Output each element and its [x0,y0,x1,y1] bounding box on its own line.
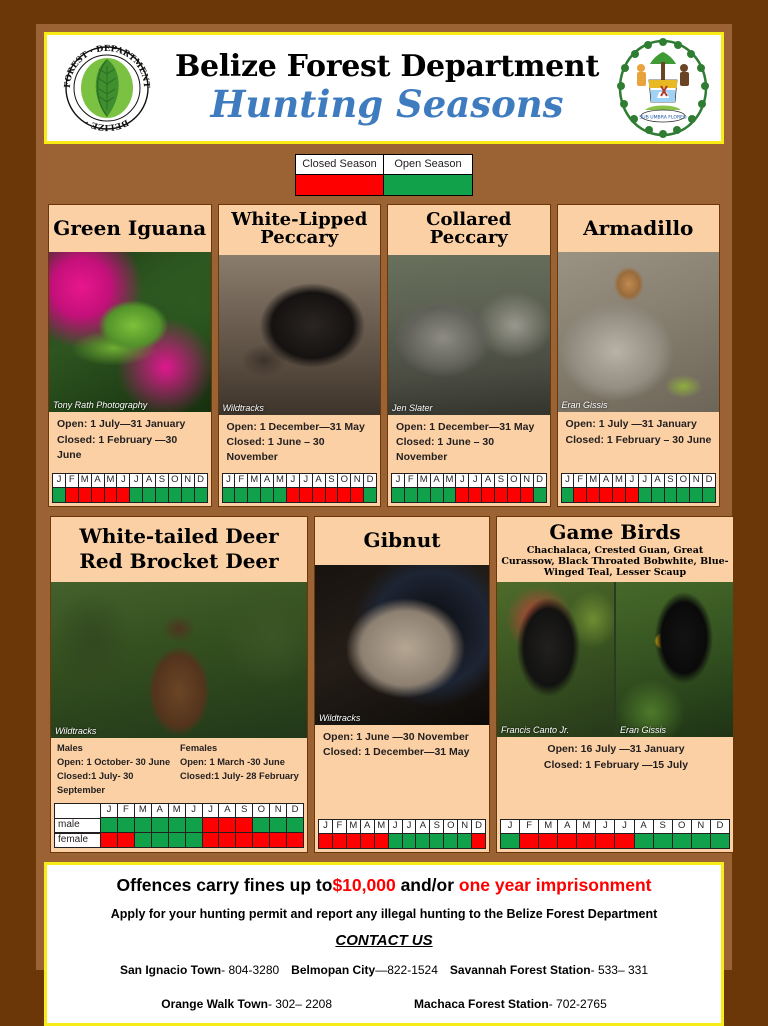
month-label-6: J [468,473,481,488]
month-label-6: J [129,473,142,488]
closed-season-text: Closed: 1 June – 30 November [396,435,544,465]
month-label-8: S [664,473,677,488]
month-label-11: D [471,819,486,834]
season-cell-7-closed [312,488,325,503]
month-label-6: J [402,819,416,834]
month-labels: JFMAMJJASOND [318,819,486,834]
month-label-1: F [519,819,538,834]
month-label-9: O [443,819,457,834]
month-label-1: F [332,819,346,834]
season-cell-10-open [691,834,710,849]
penalty-imprisonment: one year imprisonment [459,875,652,895]
month-label-3: A [430,473,443,488]
season-cell-7-open [415,834,429,849]
females-heading: Females [180,742,303,756]
season-cell-1-closed [573,488,586,503]
month-label-11: D [194,473,208,488]
season-cell-2-closed [346,834,360,849]
closed-season-text: Closed: 1 February —30 June [57,433,205,463]
month-label-6: J [614,819,633,834]
season-cell-8-open [155,488,168,503]
svg-text:SUB UMBRA FLOREO: SUB UMBRA FLOREO [639,115,687,121]
season-text: Open: 1 July —31 January Closed: 1 Febru… [558,412,720,471]
month-label-0: J [222,473,235,488]
month-label-0: J [52,473,65,488]
season-cell-10-closed [350,488,363,503]
card-title-line1: White-tailed Deer [53,524,305,549]
males-closed-text: Closed:1 July- 30 September [57,770,180,798]
photo-credit: Wildtracks [319,713,360,723]
photo-credit-left: Francis Canto Jr. [501,725,569,735]
deer-header-spacer [54,803,100,818]
closed-season-text: Closed: 1 June – 30 November [227,435,375,465]
season-cell-3-open [430,488,443,503]
month-label-8: S [653,819,672,834]
closed-season-text: Closed: 1 February – 30 June [566,433,714,448]
month-label-11: D [710,819,730,834]
closed-season-text: Closed: 1 February —15 July [505,758,727,773]
month-label-2: M [417,473,430,488]
season-cell-3-open [260,488,273,503]
season-cell-10-closed [520,488,533,503]
month-label-0: J [561,473,574,488]
species-card-green-iguana[interactable]: Green Iguana Tony Rath Photography Open:… [48,204,212,507]
season-cell-3-closed [599,488,612,503]
species-card-deer[interactable]: White-tailed Deer Red Brocket Deer Wildt… [50,516,308,853]
belize-forest-department-seal-icon: FOREST · DEPARTMENT BELIZE · [55,38,159,138]
month-label-0: J [100,803,117,818]
month-label-2: M [78,473,91,488]
contact-orange-walk[interactable]: Orange Walk Town- 302– 2208 [155,997,338,1011]
season-cell-5-closed [625,488,638,503]
season-cell-6-open [402,834,416,849]
season-cell-5-closed [286,488,299,503]
month-label-3: A [91,473,104,488]
season-cell-9-open [252,818,269,833]
season-cell-6-closed [299,488,312,503]
contact-belmopan[interactable]: Belmopan City—822-1524 [285,963,444,977]
season-cell-0-open [391,488,404,503]
month-label-8: S [429,819,443,834]
deer-male-label: male [54,818,100,833]
month-label-8: S [494,473,507,488]
species-photo-armadillo: Eran Gissis [558,252,720,412]
month-label-4: M [443,473,456,488]
month-label-1: F [117,803,134,818]
month-label-10: N [269,803,286,818]
season-cell-3-open [151,818,168,833]
month-label-7: A [481,473,494,488]
month-label-5: J [286,473,299,488]
contact-phone: - 702-2765 [549,997,607,1011]
month-strip: JFMAMJJASOND [315,817,489,852]
month-labels: JFMAMJJASOND [100,803,304,818]
females-closed-text: Closed:1 July- 28 February [180,770,303,784]
month-label-10: N [689,473,702,488]
open-season-text: Open: 1 June —30 November [323,730,483,745]
month-label-1: F [234,473,247,488]
game-birds-species-list: Chachalaca, Crested Guan, Great Curassow… [497,544,733,583]
header-titles: Belize Forest Department Hunting Seasons [159,51,615,125]
month-label-5: J [625,473,638,488]
photo-credit: Eran Gissis [562,400,608,410]
penalty-text-part1: Offences carry fines up to [117,875,333,895]
card-title-line2: Red Brocket Deer [53,549,305,574]
season-cell-6-closed [202,833,219,848]
month-cells [52,488,208,503]
season-cell-0-closed [100,833,117,848]
month-label-9: O [337,473,350,488]
season-cell-7-closed [218,818,235,833]
month-strip: JFMAMJJASOND [49,471,211,506]
season-cell-8-closed [325,488,338,503]
month-cells-female [100,833,304,848]
season-cell-2-open [417,488,430,503]
month-label-6: J [299,473,312,488]
deer-month-header-row: JFMAMJJASOND [54,803,304,818]
season-text: Open: 1 July—31 January Closed: 1 Februa… [49,412,211,471]
legend-closed-season: Closed Season [296,155,384,195]
belize-coat-of-arms-icon: SUB UMBRA FLOREO [615,36,711,140]
season-cell-5-open [185,818,202,833]
season-cell-9-closed [337,488,350,503]
season-cell-8-closed [235,818,252,833]
month-strip: JFMAMJJASOND [497,817,733,852]
month-label-5: J [388,819,402,834]
legend-open-label: Open Season [384,155,472,175]
month-label-5: J [116,473,129,488]
season-cell-4-closed [612,488,625,503]
season-cell-3-closed [91,488,104,503]
month-labels: JFMAMJJASOND [222,473,378,488]
month-labels: JFMAMJJASOND [561,473,717,488]
season-cell-0-closed [318,834,332,849]
season-cell-8-closed [235,833,252,848]
species-photo-deer: Wildtracks [51,582,307,738]
open-season-text: Open: 1 July—31 January [57,417,205,432]
month-label-0: J [500,819,519,834]
month-label-7: A [218,803,235,818]
legend-open-season: Open Season [384,155,472,195]
page-title: Belize Forest Department [159,51,615,83]
month-label-2: M [247,473,260,488]
month-label-10: N [457,819,471,834]
open-season-text: Open: 1 July —31 January [566,417,714,432]
month-label-8: S [325,473,338,488]
month-label-3: A [599,473,612,488]
season-cell-10-closed [269,833,286,848]
month-label-6: J [202,803,219,818]
photo-great-curassow: Eran Gissis [616,582,733,737]
species-photo-collared-peccary: Jen Slater [388,255,550,415]
season-text: Open: 1 December—31 May Closed: 1 June –… [388,415,550,472]
contact-phone: —822-1524 [375,963,438,977]
penalty-text-part2: and/or [396,875,459,895]
season-cell-11-open [533,488,547,503]
card-title: Green Iguana [49,205,211,252]
penalty-notice: Offences carry fines up to$10,000 and/or… [57,875,711,896]
season-cell-2-closed [586,488,599,503]
season-cell-1-closed [117,833,134,848]
month-label-5: J [185,803,202,818]
contact-row-2: Orange Walk Town- 302– 2208 Machaca Fore… [57,997,711,1011]
penalty-amount: $10,000 [332,875,395,895]
season-cell-0-open [561,488,574,503]
season-cell-9-open [676,488,689,503]
month-label-10: N [520,473,533,488]
month-label-11: D [286,803,304,818]
month-label-4: M [168,803,185,818]
season-cell-1-closed [332,834,346,849]
season-cell-4-closed [576,834,595,849]
season-text: Open: 1 June —30 November Closed: 1 Dece… [315,725,489,817]
season-cell-2-open [134,833,151,848]
card-title: White-Lipped Peccary [219,205,381,255]
month-label-0: J [391,473,404,488]
poster-footer: Offences carry fines up to$10,000 and/or… [44,862,724,1026]
month-label-1: F [404,473,417,488]
month-label-7: A [142,473,155,488]
month-label-2: M [346,819,360,834]
month-label-4: M [104,473,117,488]
month-label-4: M [576,819,595,834]
month-label-3: A [360,819,374,834]
month-strip: JFMAMJJASOND [219,471,381,506]
season-cell-11-closed [471,834,486,849]
season-cell-0-open [222,488,235,503]
contact-row-1: San Ignacio Town- 804-3280 Belmopan City… [57,963,711,977]
season-cell-7-open [651,488,664,503]
season-cell-6-open [129,488,142,503]
contact-name: Belmopan City [291,963,375,977]
month-label-9: O [672,819,691,834]
season-cell-8-closed [494,488,507,503]
males-heading: Males [57,742,180,756]
season-cell-3-closed [360,834,374,849]
open-season-text: Open: 1 December—31 May [227,420,375,435]
season-cell-8-open [429,834,443,849]
month-label-7: A [651,473,664,488]
season-cell-6-closed [202,818,219,833]
season-cell-4-open [168,818,185,833]
card-title: Armadillo [558,205,720,252]
season-cell-11-open [286,818,304,833]
females-open-text: Open: 1 March -30 June [180,756,303,770]
males-open-text: Open: 1 October- 30 June [57,756,180,770]
month-strip: JFMAMJJASOND [388,471,550,506]
month-label-10: N [691,819,710,834]
card-title: Gibnut [315,517,489,564]
season-cell-0-open [52,488,65,503]
month-cells-male [100,818,304,833]
season-cell-6-closed [614,834,633,849]
season-cell-2-open [134,818,151,833]
season-cell-4-open [168,833,185,848]
month-label-2: M [538,819,557,834]
photo-credit-right: Eran Gissis [620,725,666,735]
season-cell-1-closed [519,834,538,849]
contact-us-heading: CONTACT US [57,932,711,949]
season-cell-0-open [100,818,117,833]
season-cell-5-closed [116,488,129,503]
season-cell-11-open [363,488,377,503]
photo-credit: Tony Rath Photography [53,400,147,410]
season-cell-8-open [664,488,677,503]
species-card-gibnut[interactable]: Gibnut Wildtracks Open: 1 June —30 Novem… [314,516,490,853]
contact-phone: - 302– 2208 [268,997,332,1011]
month-label-9: O [168,473,181,488]
legend-closed-label: Closed Season [296,155,383,175]
open-season-text: Open: 1 December—31 May [396,420,544,435]
season-cell-2-closed [78,488,91,503]
species-photo-game-birds: Francis Canto Jr. Eran Gissis [497,582,733,737]
month-label-2: M [134,803,151,818]
photo-credit: Wildtracks [223,403,264,413]
season-cell-11-open [194,488,208,503]
season-cell-6-closed [468,488,481,503]
month-label-3: A [557,819,576,834]
month-label-11: D [533,473,547,488]
card-title: White-tailed Deer Red Brocket Deer [51,517,307,582]
month-label-1: F [65,473,78,488]
month-label-9: O [507,473,520,488]
season-cell-5-open [185,833,202,848]
month-label-10: N [181,473,194,488]
season-cell-11-open [702,488,716,503]
season-text: Open: 16 July —31 January Closed: 1 Febr… [497,737,733,817]
season-cell-9-open [672,834,691,849]
month-label-0: J [318,819,332,834]
legend-closed-swatch [296,175,383,195]
species-row-2: White-tailed Deer Red Brocket Deer Wildt… [44,516,724,853]
month-label-7: A [634,819,653,834]
month-label-4: M [612,473,625,488]
season-cell-4-closed [104,488,117,503]
month-label-5: J [455,473,468,488]
season-cell-4-open [273,488,286,503]
season-cell-4-closed [374,834,388,849]
month-label-9: O [676,473,689,488]
season-cell-10-open [457,834,471,849]
deer-male-row: male [54,818,304,833]
month-strip: JFMAMJJASOND [558,471,720,506]
month-label-8: S [235,803,252,818]
contact-machaca[interactable]: Machaca Forest Station- 702-2765 [408,997,613,1011]
season-cell-10-open [269,818,286,833]
season-cell-1-open [404,488,417,503]
species-card-armadillo[interactable]: Armadillo Eran Gissis Open: 1 July —31 J… [557,204,721,507]
species-row-1: Green Iguana Tony Rath Photography Open:… [44,204,724,507]
month-cells [222,488,378,503]
season-legend: Closed Season Open Season [44,154,724,196]
month-label-4: M [374,819,388,834]
open-season-text: Open: 16 July —31 January [505,742,727,757]
month-cells [561,488,717,503]
month-label-8: S [155,473,168,488]
month-label-4: M [273,473,286,488]
season-cell-5-open [388,834,402,849]
season-cell-4-open [443,488,456,503]
page-subtitle: Hunting Seasons [159,84,615,125]
deer-female-label: female [54,833,100,848]
closed-season-text: Closed: 1 December—31 May [323,745,483,760]
month-label-9: O [252,803,269,818]
season-text-deer: Males Open: 1 October- 30 June Closed:1 … [51,738,307,801]
species-photo-gibnut: Wildtracks [315,565,489,725]
season-cell-7-open [142,488,155,503]
month-strip-deer: JFMAMJJASOND male female [51,801,307,852]
season-cell-7-open [634,834,653,849]
month-label-11: D [702,473,716,488]
photo-crested-guan: Francis Canto Jr. [497,582,614,737]
contact-name: Machaca Forest Station [414,997,549,1011]
month-label-3: A [151,803,168,818]
season-cell-3-open [151,833,168,848]
month-labels: JFMAMJJASOND [52,473,208,488]
season-cell-9-closed [507,488,520,503]
season-cell-9-open [443,834,457,849]
contact-savannah[interactable]: Savannah Forest Station- 533– 331 [444,963,654,977]
photo-credit: Wildtracks [55,726,96,736]
month-label-11: D [363,473,377,488]
month-label-5: J [595,819,614,834]
season-cell-5-closed [455,488,468,503]
species-card-game-birds[interactable]: Game Birds Chachalaca, Crested Guan, Gre… [496,516,734,853]
contact-phone: - 533– 331 [591,963,648,977]
contact-row-spacer [338,997,408,1011]
apply-notice: Apply for your hunting permit and report… [57,907,711,921]
season-cell-10-open [181,488,194,503]
season-cell-5-closed [595,834,614,849]
contact-name: Orange Walk Town [161,997,268,1011]
legend-open-swatch [384,175,472,195]
month-label-10: N [350,473,363,488]
contact-name: Savannah Forest Station [450,963,591,977]
poster: FOREST · DEPARTMENT BELIZE · Belize Fore… [36,24,732,970]
season-cell-7-closed [218,833,235,848]
season-cell-1-open [117,818,134,833]
month-label-2: M [586,473,599,488]
deer-males-block: Males Open: 1 October- 30 June Closed:1 … [57,742,180,798]
season-cell-11-closed [286,833,304,848]
contact-name: San Ignacio Town [120,963,221,977]
month-label-1: F [573,473,586,488]
season-cell-11-open [710,834,730,849]
svg-text:BELIZE ·: BELIZE · [83,118,130,134]
species-card-white-lipped-peccary[interactable]: White-Lipped Peccary Wildtracks Open: 1 … [218,204,382,507]
contact-phone: - 804-3280 [221,963,279,977]
month-label-7: A [312,473,325,488]
season-cell-2-open [247,488,260,503]
season-cell-1-open [234,488,247,503]
species-card-collared-peccary[interactable]: Collared Peccary Jen Slater Open: 1 Dece… [387,204,551,507]
month-cells [391,488,547,503]
season-cell-6-open [638,488,651,503]
card-title: Game Birds [497,517,733,543]
month-label-6: J [638,473,651,488]
season-text: Open: 1 December—31 May Closed: 1 June –… [219,415,381,472]
photo-credit: Jen Slater [392,403,433,413]
season-cell-0-open [500,834,519,849]
month-labels: JFMAMJJASOND [391,473,547,488]
card-title: Collared Peccary [388,205,550,255]
species-photo-green-iguana: Tony Rath Photography [49,252,211,412]
contact-san-ignacio[interactable]: San Ignacio Town- 804-3280 [114,963,285,977]
season-cell-2-closed [538,834,557,849]
season-cell-9-open [168,488,181,503]
month-label-7: A [415,819,429,834]
month-labels: JFMAMJJASOND [500,819,730,834]
